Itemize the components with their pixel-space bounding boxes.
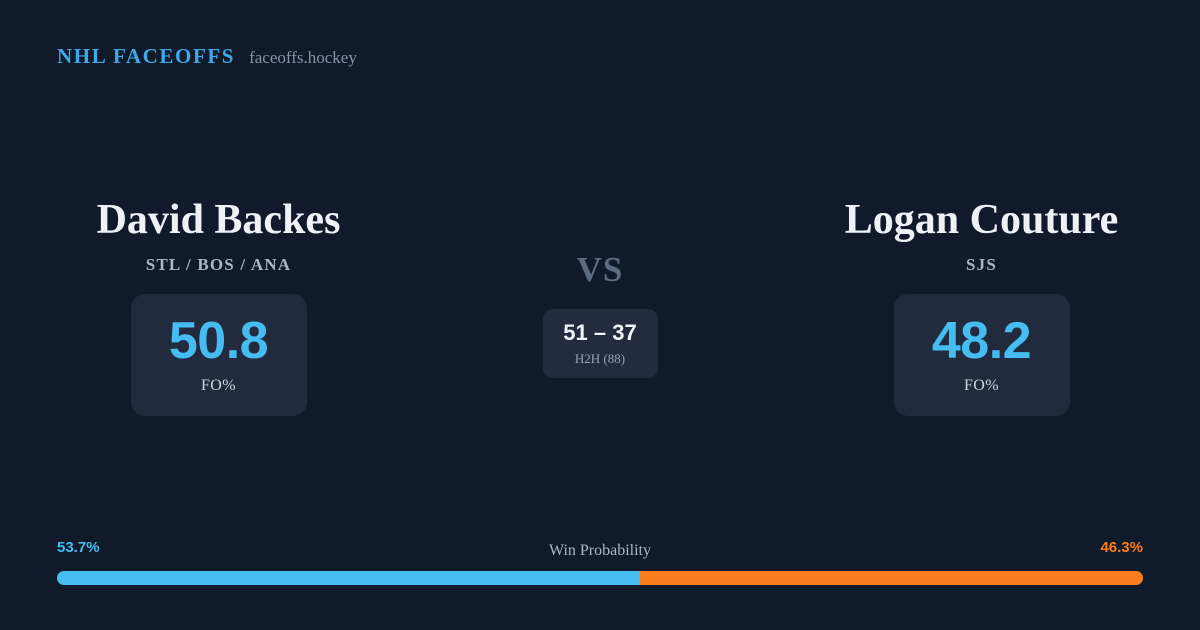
- win-probability-section: 53.7% Win Probability 46.3%: [57, 540, 1143, 585]
- player-teams-left: STL / BOS / ANA: [146, 256, 292, 273]
- stat-label-right: FO%: [964, 378, 999, 394]
- player-card-left: David Backes STL / BOS / ANA 50.8 FO%: [0, 196, 437, 416]
- player-teams-right: SJS: [966, 256, 997, 273]
- site-header: NHL FACEOFFS faceoffs.hockey: [57, 46, 357, 67]
- versus-column: VS 51 – 37 H2H (88): [437, 196, 763, 378]
- stat-value-right: 48.2: [932, 315, 1031, 367]
- win-probability-bar-left-segment: [57, 571, 640, 585]
- stat-label-left: FO%: [201, 378, 236, 394]
- brand-domain: faceoffs.hockey: [249, 49, 357, 66]
- win-probability-bar-right-segment: [640, 571, 1143, 585]
- head-to-head-caption: H2H (88): [575, 352, 625, 365]
- head-to-head-badge: 51 – 37 H2H (88): [543, 309, 658, 378]
- stat-card-left: 50.8 FO%: [131, 294, 307, 416]
- win-probability-legend: 53.7% Win Probability 46.3%: [57, 540, 1143, 558]
- player-card-right: Logan Couture SJS 48.2 FO%: [763, 196, 1200, 416]
- stat-value-left: 50.8: [169, 315, 268, 367]
- head-to-head-record: 51 – 37: [563, 322, 636, 344]
- brand-name: NHL FACEOFFS: [57, 46, 235, 67]
- player-name-right: Logan Couture: [845, 196, 1118, 246]
- win-probability-bar: [57, 571, 1143, 585]
- win-probability-title: Win Probability: [57, 543, 1143, 559]
- player-name-left: David Backes: [97, 196, 341, 246]
- versus-label: VS: [577, 252, 624, 287]
- stat-card-right: 48.2 FO%: [894, 294, 1070, 416]
- matchup-section: David Backes STL / BOS / ANA 50.8 FO% VS…: [0, 196, 1200, 416]
